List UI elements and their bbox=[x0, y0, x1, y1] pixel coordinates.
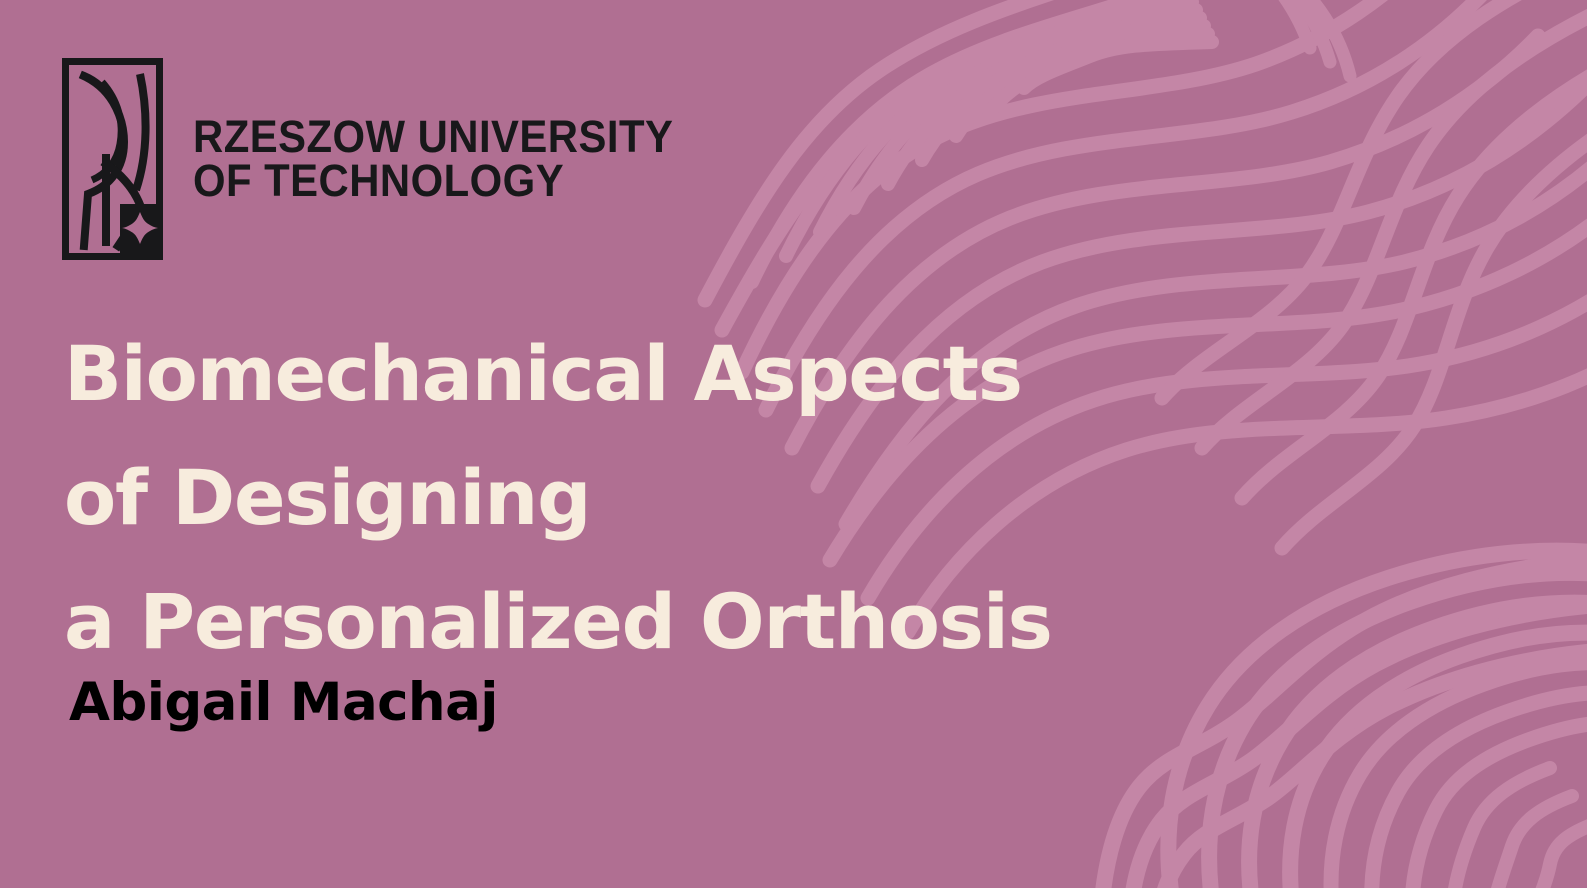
contour-group-bottom-right bbox=[1102, 551, 1587, 888]
presentation-title: Biomechanical Aspects of Designing a Per… bbox=[64, 312, 1052, 684]
wordmark-line-1: RZESZOW UNIVERSITY bbox=[193, 115, 673, 159]
university-logo: RZESZOW UNIVERSITY OF TECHNOLOGY bbox=[62, 58, 710, 260]
wordmark-line-2: OF TECHNOLOGY bbox=[193, 159, 673, 203]
rzeszow-university-emblem-icon bbox=[62, 58, 163, 260]
author-name: Abigail Machaj bbox=[69, 672, 498, 734]
title-line-3: a Personalized Orthosis bbox=[64, 560, 1052, 684]
university-wordmark: RZESZOW UNIVERSITY OF TECHNOLOGY bbox=[193, 115, 710, 203]
title-line-1: Biomechanical Aspects bbox=[64, 312, 1052, 436]
title-slide: RZESZOW UNIVERSITY OF TECHNOLOGY Biomech… bbox=[0, 0, 1587, 888]
title-line-2: of Designing bbox=[64, 436, 1052, 560]
